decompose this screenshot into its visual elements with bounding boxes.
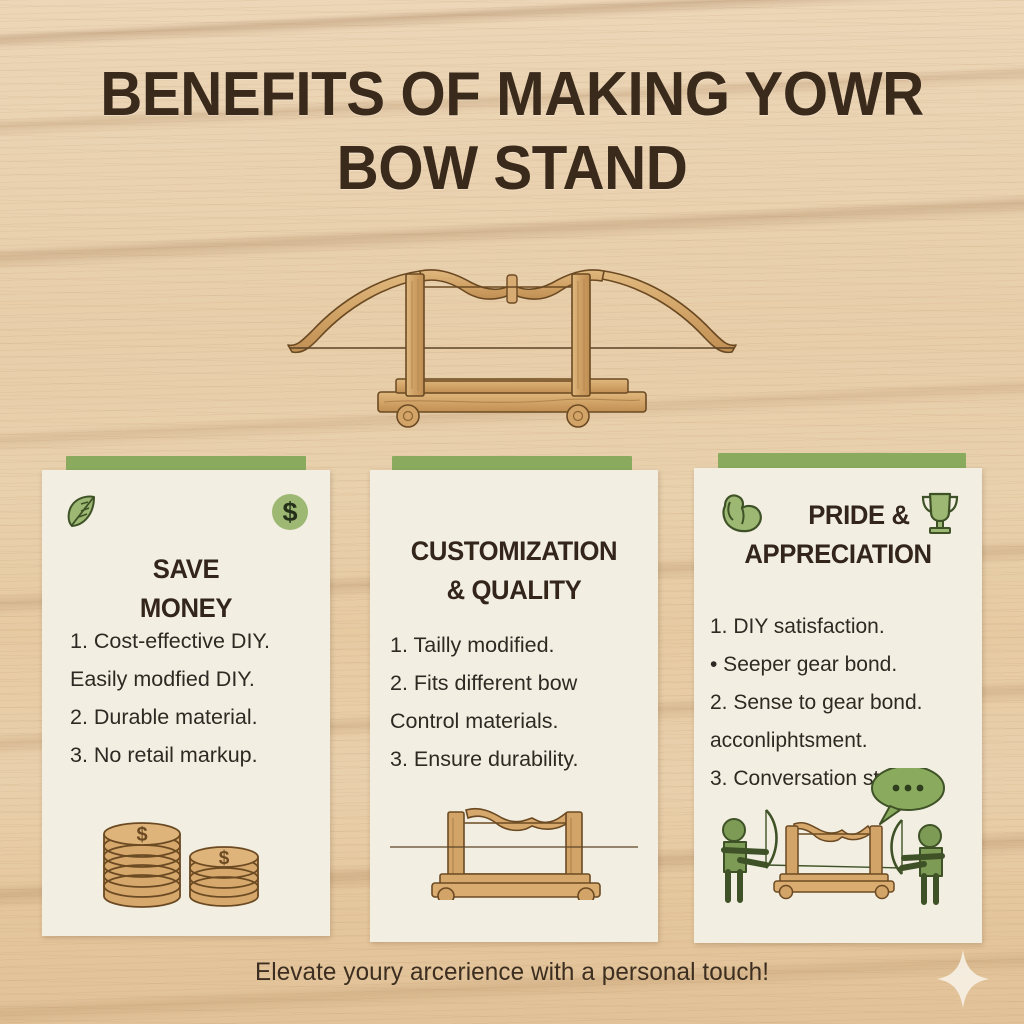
card-heading-line-2: APPRECIATION bbox=[701, 535, 975, 574]
card-heading-save-money: SAVE MONEY bbox=[49, 550, 323, 628]
card-pride-appreciation[interactable]: PRIDE & APPRECIATION 1. DIY satisfaction… bbox=[694, 468, 982, 943]
list-item: 2. Durable material. bbox=[70, 698, 330, 736]
title-line-2: BOW STAND bbox=[31, 132, 994, 206]
title-line-1: BENEFITS OF MAKING YOWR bbox=[31, 58, 994, 132]
card-icons-save-money: $ bbox=[42, 492, 330, 546]
bow-on-wooden-stand-illustration bbox=[272, 255, 752, 435]
card-list-save-money: 1. Cost-effective DIY. Easily modfied DI… bbox=[42, 622, 330, 774]
card-heading-line-1: SAVE bbox=[49, 550, 323, 589]
svg-text:$: $ bbox=[282, 497, 297, 527]
card-list-customization-quality: 1. Tailly modified. 2. Fits different bo… bbox=[370, 626, 658, 778]
svg-text:$: $ bbox=[219, 848, 230, 869]
list-item: 1. Cost-effective DIY. bbox=[70, 622, 330, 660]
list-item: 3. Ensure durability. bbox=[390, 740, 658, 778]
list-item: acconliphtsment. bbox=[710, 722, 982, 760]
svg-text:$: $ bbox=[136, 824, 147, 846]
page-title: BENEFITS OF MAKING YOWR BOW STAND bbox=[0, 58, 1024, 206]
leaf-icon bbox=[64, 492, 98, 535]
card-heading-line-1: CUSTOMIZATION bbox=[377, 532, 651, 571]
card-heading-line-2: & QUALITY bbox=[377, 571, 651, 610]
speech-bubble-icon bbox=[872, 768, 944, 824]
card-heading-line-1: PRIDE & bbox=[701, 496, 975, 535]
list-item: 2. Fits different bow bbox=[390, 664, 658, 702]
list-item: Control materials. bbox=[390, 702, 658, 740]
card-heading-customization-quality: CUSTOMIZATION & QUALITY bbox=[377, 532, 651, 610]
stacked-coins-illustration: $ $ bbox=[42, 800, 330, 910]
bow-stand-illustration bbox=[370, 790, 658, 900]
list-item: 1. DIY satisfaction. bbox=[710, 608, 982, 646]
card-save-money[interactable]: $ SAVE MONEY 1. Cost-effective DIY. Easi… bbox=[42, 470, 330, 936]
list-item: 1. Tailly modified. bbox=[390, 626, 658, 664]
card-heading-pride-appreciation: PRIDE & APPRECIATION bbox=[701, 496, 975, 574]
footer-tagline: Elevate youry arcerience with a personal… bbox=[15, 958, 1008, 987]
list-item: Easily modfied DIY. bbox=[70, 660, 330, 698]
list-item: 3. No retail markup. bbox=[70, 736, 330, 774]
card-customization-quality[interactable]: CUSTOMIZATION & QUALITY 1. Tailly modifi… bbox=[370, 470, 658, 942]
sparkle-icon bbox=[935, 948, 991, 1010]
list-item: 2. Sense to gear bond. bbox=[710, 684, 982, 722]
poster-canvas: BENEFITS OF MAKING YOWR BOW STAND bbox=[0, 0, 1024, 1024]
dollar-coin-icon: $ bbox=[270, 492, 310, 537]
two-archers-with-bow-stand-illustration bbox=[694, 768, 982, 908]
list-item: • Seeper gear bond. bbox=[710, 646, 982, 684]
